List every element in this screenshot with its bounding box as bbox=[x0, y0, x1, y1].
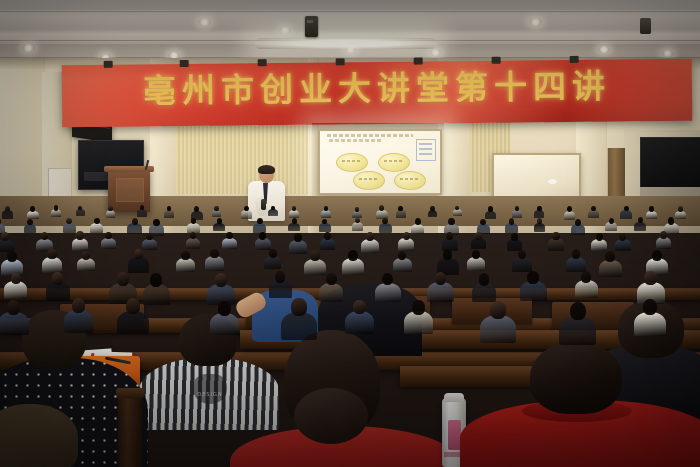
attendee-torso bbox=[268, 209, 277, 216]
attendee-torso bbox=[467, 257, 485, 270]
attendee-torso bbox=[375, 283, 401, 303]
attendee-head bbox=[292, 206, 296, 211]
attendee-torso bbox=[46, 282, 70, 301]
attendee-torso bbox=[222, 238, 236, 249]
wall-mounted-display bbox=[640, 137, 700, 189]
attendee-head bbox=[259, 232, 266, 240]
attendee-torso bbox=[512, 257, 531, 272]
attendee-torso bbox=[304, 259, 325, 275]
lecture-hall-photo: 亳州市创业大讲堂第十四讲 bbox=[0, 0, 700, 467]
attendee-head bbox=[150, 273, 162, 287]
attendee-torso bbox=[137, 209, 147, 216]
attendee-head bbox=[415, 218, 421, 225]
downlight bbox=[598, 46, 610, 53]
attendee-torso bbox=[24, 224, 37, 234]
attendee-head bbox=[210, 249, 218, 258]
attendee-torso bbox=[427, 282, 454, 302]
attendee-head bbox=[215, 273, 227, 287]
attendee-head bbox=[435, 272, 447, 285]
attendee-head bbox=[218, 301, 231, 316]
attendee-torso bbox=[143, 284, 170, 305]
attendee-head bbox=[355, 218, 360, 224]
projection-screen bbox=[318, 129, 442, 195]
attendee-torso bbox=[2, 210, 13, 218]
attendee-torso bbox=[127, 223, 141, 234]
attendee-torso bbox=[575, 280, 598, 297]
attendee-head bbox=[82, 251, 90, 260]
attendee-torso bbox=[142, 239, 157, 250]
attendee-head bbox=[678, 206, 683, 211]
attendee-head bbox=[596, 233, 603, 241]
attendee-torso bbox=[634, 222, 646, 231]
attendee-head bbox=[275, 271, 285, 283]
attendee-torso bbox=[656, 237, 671, 249]
attendee-torso bbox=[281, 312, 317, 340]
attendee-head bbox=[575, 219, 581, 226]
slide-oval bbox=[353, 171, 385, 190]
slide-oval-text bbox=[400, 178, 419, 180]
slide-side-box bbox=[416, 139, 436, 161]
attendee-head bbox=[76, 231, 83, 239]
attendee-head bbox=[537, 206, 541, 211]
attendee-head bbox=[652, 250, 662, 261]
attendee-torso bbox=[534, 223, 545, 232]
attendee-torso bbox=[255, 238, 271, 250]
attendee-head bbox=[479, 273, 490, 285]
speaker-hair bbox=[258, 165, 275, 174]
ceiling-projector-icon bbox=[305, 16, 318, 37]
attendee-head bbox=[271, 206, 275, 211]
attendee-head bbox=[117, 272, 129, 286]
attendee-head bbox=[214, 206, 218, 211]
attendee-head bbox=[105, 232, 111, 239]
attendee-head bbox=[11, 273, 21, 284]
attendee-torso bbox=[566, 257, 586, 272]
attendee-torso bbox=[319, 223, 330, 232]
attendee-torso bbox=[393, 258, 411, 272]
banner-title: 亳州市创业大讲堂第十四讲 bbox=[62, 63, 692, 116]
attendee-head bbox=[509, 218, 515, 224]
attendee-torso bbox=[320, 238, 336, 250]
attendee-torso bbox=[564, 211, 576, 220]
attendee-head bbox=[644, 271, 656, 285]
attendee-torso bbox=[620, 210, 632, 219]
attendee-head bbox=[7, 300, 20, 315]
attendee-head bbox=[108, 206, 112, 211]
attendee-head bbox=[398, 206, 403, 211]
attendee-head bbox=[570, 302, 586, 321]
attendee-head bbox=[146, 233, 153, 241]
attendee-torso bbox=[205, 256, 224, 270]
attendee-torso bbox=[599, 260, 622, 277]
attendee-torso bbox=[485, 211, 496, 219]
attendee-head bbox=[643, 299, 657, 315]
attendee-torso bbox=[352, 222, 364, 231]
attendee-head bbox=[609, 218, 614, 224]
whiteboard-glint bbox=[548, 179, 557, 184]
attendee-head bbox=[668, 217, 675, 224]
attendee-head bbox=[72, 298, 85, 313]
attendee-head bbox=[134, 249, 143, 259]
downlight bbox=[279, 27, 291, 34]
downlight bbox=[22, 44, 35, 52]
attendee-head bbox=[140, 205, 144, 210]
attendee-torso bbox=[27, 211, 38, 220]
attendee-torso bbox=[319, 283, 344, 302]
attendee-torso bbox=[176, 258, 195, 273]
attendee-head bbox=[167, 206, 171, 211]
attendee-torso bbox=[289, 210, 299, 218]
attendee-head bbox=[226, 232, 232, 239]
attendee-head bbox=[619, 233, 626, 241]
attendee-torso bbox=[605, 222, 617, 231]
attendee-head bbox=[47, 249, 56, 259]
attendee-torso bbox=[128, 257, 149, 273]
attendee-torso bbox=[411, 224, 424, 234]
attendee-head bbox=[537, 218, 542, 224]
attendee-head bbox=[605, 251, 615, 262]
attendee-torso bbox=[321, 210, 331, 218]
attendee-torso bbox=[51, 209, 61, 217]
attendee-torso bbox=[90, 223, 103, 233]
attendee-head bbox=[398, 251, 406, 260]
attendee-red-shirt-ponytail bbox=[238, 330, 448, 467]
attendee-torso bbox=[404, 311, 434, 334]
attendee-red-jacket: 创业园 bbox=[470, 376, 700, 467]
attendee-torso bbox=[241, 210, 252, 219]
attendee-head bbox=[326, 273, 337, 285]
attendee-torso bbox=[117, 311, 148, 335]
attendee-head bbox=[448, 218, 454, 225]
attendee-torso bbox=[210, 313, 240, 336]
downlight bbox=[662, 50, 673, 57]
attendee-torso bbox=[548, 238, 564, 251]
attendee-torso bbox=[212, 210, 221, 217]
attendee-torso bbox=[64, 310, 94, 333]
attendee-torso bbox=[101, 238, 116, 249]
attendee-head bbox=[353, 300, 366, 315]
attendee-head bbox=[324, 206, 329, 211]
attendee-head bbox=[430, 206, 434, 211]
attendee-torso bbox=[106, 210, 116, 218]
attendee-torso bbox=[42, 257, 63, 273]
attendee-torso bbox=[342, 258, 364, 275]
attendee-head bbox=[310, 250, 319, 261]
attendee-head bbox=[355, 207, 360, 212]
attendee-head bbox=[403, 232, 410, 240]
attendee-torso bbox=[675, 211, 686, 219]
attendee-head bbox=[649, 206, 654, 212]
attendee-torso bbox=[520, 281, 546, 301]
attendee-head bbox=[291, 298, 307, 316]
attendee-head bbox=[475, 232, 482, 239]
attendee-head bbox=[153, 219, 159, 226]
attendee-head bbox=[488, 206, 493, 211]
attendee-head bbox=[94, 218, 100, 225]
attendee-head bbox=[27, 219, 33, 225]
attendee-head bbox=[591, 206, 596, 211]
attendee-head bbox=[194, 206, 199, 212]
bottle-cap bbox=[116, 388, 144, 398]
attendee-head bbox=[552, 232, 559, 240]
downlight bbox=[430, 49, 441, 56]
attendee-torso bbox=[453, 209, 462, 216]
attendee-torso bbox=[471, 238, 486, 249]
attendee-head bbox=[624, 206, 629, 212]
attendee-torso bbox=[4, 281, 27, 298]
slide-title-line bbox=[327, 134, 413, 137]
attendee-torso bbox=[571, 224, 585, 235]
attendee-head bbox=[443, 249, 453, 260]
attendee-torso bbox=[63, 223, 76, 233]
attendee-torso bbox=[507, 239, 522, 251]
slide-oval bbox=[378, 153, 410, 172]
attendee-head bbox=[527, 271, 539, 284]
attendee-torso bbox=[269, 280, 292, 298]
strip-light bbox=[255, 38, 437, 49]
attendee-head bbox=[52, 272, 63, 284]
attendee-torso bbox=[591, 239, 607, 251]
slide-oval-text bbox=[384, 160, 403, 162]
attendee-torso bbox=[588, 210, 599, 218]
attendee-head bbox=[530, 342, 622, 414]
attendee-head bbox=[269, 249, 277, 258]
attendee-torso bbox=[396, 210, 406, 218]
attendee-torso bbox=[615, 239, 631, 251]
attendee-head bbox=[132, 218, 138, 225]
slide-oval-text bbox=[359, 178, 378, 180]
event-banner: 亳州市创业大讲堂第十四讲 bbox=[62, 59, 693, 128]
slide-oval bbox=[336, 153, 368, 172]
attendee-head bbox=[472, 250, 480, 259]
attendee-torso bbox=[361, 239, 379, 253]
attendee-torso bbox=[77, 258, 94, 271]
attendee-torso bbox=[559, 316, 596, 345]
attendee-torso bbox=[379, 223, 393, 233]
attendee-torso bbox=[264, 256, 282, 269]
attendee-torso bbox=[164, 210, 174, 218]
attendee-torso bbox=[428, 210, 438, 218]
attendee-head bbox=[660, 231, 667, 239]
attendee-head bbox=[412, 300, 425, 315]
attendee-head bbox=[54, 205, 58, 210]
attendee-torso bbox=[398, 238, 414, 250]
attendee-head bbox=[292, 218, 297, 224]
ceiling-camera-icon bbox=[640, 18, 651, 34]
attendee-head bbox=[572, 249, 581, 259]
attendee-head bbox=[366, 232, 374, 241]
downlight bbox=[198, 18, 211, 26]
attendee-head bbox=[294, 233, 302, 242]
attendee-torso bbox=[512, 210, 522, 218]
attendee-torso bbox=[472, 283, 497, 302]
attendee-head bbox=[490, 301, 506, 319]
attendee-head bbox=[7, 251, 17, 262]
attendee-torso bbox=[634, 312, 666, 336]
attendee-torso bbox=[72, 238, 89, 251]
downlight bbox=[529, 18, 542, 26]
slide-oval-text bbox=[342, 160, 361, 162]
attendee-torso bbox=[534, 210, 544, 218]
attendee-torso bbox=[289, 240, 307, 254]
attendee-head bbox=[181, 251, 189, 261]
slide-oval bbox=[394, 171, 426, 190]
attendee-head bbox=[581, 271, 591, 282]
attendee-torso bbox=[76, 209, 85, 216]
attendee-torso bbox=[288, 223, 299, 232]
shirt-back-text: DESIGN bbox=[195, 392, 225, 398]
attendee-torso bbox=[345, 311, 374, 334]
attendee-torso bbox=[646, 211, 657, 220]
ceiling-lights bbox=[0, 0, 700, 66]
attendee-head bbox=[511, 233, 518, 241]
shirt-back-graphic bbox=[193, 374, 227, 404]
attendee-torso bbox=[505, 223, 518, 233]
attendee-torso bbox=[213, 223, 224, 232]
attendee-head bbox=[217, 218, 222, 224]
attendee-head bbox=[126, 298, 140, 314]
attendee-head bbox=[324, 232, 331, 240]
attendee-torso bbox=[480, 315, 516, 342]
slide-title-line bbox=[329, 139, 381, 142]
attendee-torso bbox=[0, 312, 29, 335]
attendee-head bbox=[567, 206, 572, 212]
attendee-head bbox=[348, 250, 358, 261]
attendee-head bbox=[257, 218, 263, 225]
attendee-torso bbox=[186, 238, 200, 249]
dark-bottle bbox=[118, 392, 142, 467]
thermos-cap bbox=[444, 393, 464, 402]
ponytail bbox=[294, 388, 368, 444]
attendee-head bbox=[1, 232, 9, 241]
